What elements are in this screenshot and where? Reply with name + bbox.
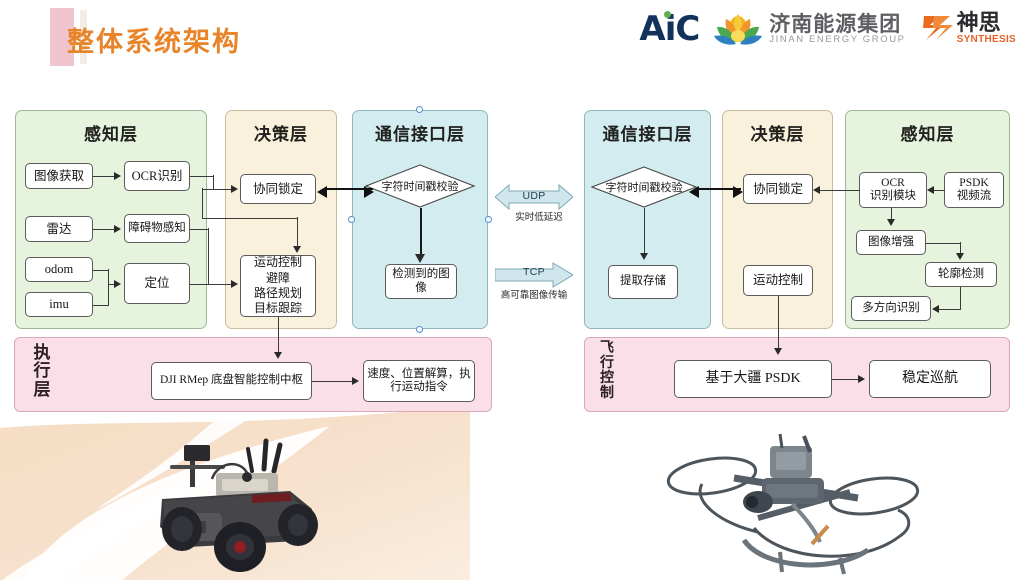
node-localization[interactable]: 定位 <box>124 263 190 304</box>
selection-handle-top[interactable] <box>416 106 423 113</box>
node-contour-detect[interactable]: 轮廓检测 <box>925 262 997 287</box>
link-right-motion-to-flight <box>778 296 779 352</box>
node-multi-direction-recognition[interactable]: 多方向识别 <box>851 296 931 321</box>
protocol-label-tcp: TCP <box>495 266 573 278</box>
node-image-capture[interactable]: 图像获取 <box>25 163 93 189</box>
panel-left-communication-title: 通信接口层 <box>353 120 487 145</box>
link-ocr-right <box>190 176 214 177</box>
link-timestamp-to-detected <box>420 208 422 256</box>
arrowhead-motion-to-execution <box>274 352 282 359</box>
drone-photo <box>662 432 932 577</box>
link-image-to-ocr <box>93 176 116 177</box>
node-left-timestamp-check[interactable]: 字符时间戳校验 <box>365 164 475 208</box>
arrowhead-timestamp-to-detected <box>415 254 425 263</box>
node-ocr[interactable]: OCR识别 <box>124 161 190 191</box>
link-imu-out <box>93 305 109 306</box>
node-left-cooperative-lock[interactable]: 协同锁定 <box>240 174 316 204</box>
link-right-timestamp-to-store <box>644 208 645 256</box>
protocol-label-udp: UDP <box>495 190 573 202</box>
node-image-enhance[interactable]: 图像增强 <box>856 230 926 255</box>
panel-left-perception-title: 感知层 <box>16 120 206 145</box>
selection-handle-bottom[interactable] <box>416 326 423 333</box>
ocr-module-line-2: 识别模块 <box>870 190 916 203</box>
panel-right-communication-title: 通信接口层 <box>585 120 710 145</box>
arrowhead-contour-to-multi <box>932 305 939 313</box>
node-right-timestamp-check[interactable]: 字符时间戳校验 <box>591 166 697 208</box>
link-lidar-to-obstacle <box>93 229 116 230</box>
protocol-arrow-tcp[interactable]: TCP <box>495 262 573 288</box>
link-contour-down <box>960 287 961 309</box>
node-left-detected-image[interactable]: 检测到的图像 <box>385 264 457 299</box>
link-motion-to-execution <box>278 317 280 355</box>
link-odom-out <box>93 270 109 271</box>
panel-right-perception-title: 感知层 <box>846 120 1009 145</box>
arrowhead-chassis-to-command <box>352 377 359 385</box>
link-chassis-to-command <box>312 381 355 382</box>
node-stable-cruise[interactable]: 稳定巡航 <box>869 360 991 398</box>
node-right-motion-control[interactable]: 运动控制 <box>743 265 813 296</box>
arrowhead-localization-to-motion <box>231 280 238 288</box>
node-ocr-module[interactable]: OCR 识别模块 <box>859 172 927 208</box>
arrowhead-image-to-ocr <box>114 172 121 180</box>
node-right-cooperative-lock[interactable]: 协同锁定 <box>743 174 813 204</box>
motion-command-line-1: 速度、位置解算，执 <box>367 368 471 381</box>
link-localization-to-motion <box>190 284 234 285</box>
link-obstacle-right <box>190 229 209 230</box>
node-psdk-stream[interactable]: PSDK 视频流 <box>944 172 1004 208</box>
flight-label-char-1: 飞 <box>596 341 618 356</box>
link-ocr-branch-down <box>202 188 203 218</box>
link-ocr-branch-right <box>202 218 298 219</box>
panel-right-decision-title: 决策层 <box>723 120 832 145</box>
ocr-module-line-1: OCR <box>881 177 905 190</box>
arrowhead-psdk-to-cruise <box>858 375 865 383</box>
motion-command-line-2: 行运动指令 <box>390 381 448 394</box>
motion-control-line-3: 路径规划 <box>254 286 302 301</box>
arrowhead-left-lock-diamond-left <box>317 186 327 198</box>
node-left-motion-control[interactable]: 运动控制 避障 路径规划 目标跟踪 <box>240 255 316 317</box>
architecture-diagram: 感知层 图像获取 OCR识别 雷达 障碍物感知 odom imu 定位 决策层 … <box>0 0 1022 580</box>
node-extract-store[interactable]: 提取存储 <box>608 265 678 299</box>
arrowhead-right-motion-to-flight <box>774 348 782 355</box>
execution-label-char-3: 层 <box>30 381 54 399</box>
protocol-note-tcp: 高可靠图像传输 <box>479 287 589 301</box>
arrowhead-psdk-to-ocr <box>927 186 934 194</box>
motion-control-line-4: 目标跟踪 <box>254 301 302 316</box>
link-branch-to-motion-top <box>297 217 298 249</box>
protocol-arrow-udp[interactable]: UDP <box>495 182 573 212</box>
arrowhead-lidar-to-obstacle <box>114 225 121 233</box>
node-lidar[interactable]: 雷达 <box>25 216 93 242</box>
link-odom-imu-merge <box>108 269 109 305</box>
arrowhead-ocr-to-right-lock <box>813 186 820 194</box>
arrowhead-right-diamond-lock-left <box>689 186 699 198</box>
selection-handle-left[interactable] <box>348 216 355 223</box>
execution-label-char-1: 执 <box>30 344 54 362</box>
arrowhead-right-timestamp-to-store <box>640 253 648 260</box>
timestamp-check-label: 字符时间戳校验 <box>365 178 475 194</box>
link-ocr-to-lock <box>202 189 234 190</box>
motion-control-line-1: 运动控制 <box>254 255 302 270</box>
psdk-stream-line-2: 视频流 <box>957 190 992 203</box>
arrowhead-right-diamond-lock-right <box>733 186 743 198</box>
arrowhead-ocr-to-enhance <box>887 219 895 226</box>
ground-robot-photo <box>140 435 340 575</box>
psdk-stream-line-1: PSDK <box>959 177 988 190</box>
arrowhead-branch-to-motion-top <box>293 246 301 253</box>
link-obstacle-down <box>208 228 209 284</box>
link-ocr-to-right-lock <box>818 190 860 191</box>
link-contour-to-multi <box>937 309 961 310</box>
arrowhead-ocr-to-lock <box>231 185 238 193</box>
node-motion-command[interactable]: 速度、位置解算，执 行运动指令 <box>363 360 475 402</box>
node-odom[interactable]: odom <box>25 257 93 282</box>
band-flight-control-label: 飞 行 控 制 <box>596 341 618 401</box>
flight-label-char-4: 制 <box>596 386 618 401</box>
node-chassis-control-hub[interactable]: DJI RMep 底盘智能控制中枢 <box>151 362 312 400</box>
node-psdk-based[interactable]: 基于大疆 PSDK <box>674 360 832 398</box>
arrowhead-left-lock-diamond-right <box>364 186 374 198</box>
band-execution-label: 执 行 层 <box>30 344 54 399</box>
panel-left-decision-title: 决策层 <box>226 120 336 145</box>
node-obstacle-perception[interactable]: 障碍物感知 <box>124 214 190 243</box>
link-enhance-right <box>926 243 961 244</box>
node-imu[interactable]: imu <box>25 292 93 317</box>
arrowhead-merge-to-localization <box>114 280 121 288</box>
flight-label-char-2: 行 <box>596 356 618 371</box>
link-ocr-down <box>213 175 214 189</box>
motion-control-line-2: 避障 <box>266 271 290 286</box>
execution-label-char-2: 行 <box>30 362 54 380</box>
protocol-note-udp: 实时低延迟 <box>484 209 594 223</box>
right-timestamp-check-label: 字符时间戳校验 <box>591 179 697 195</box>
arrowhead-enhance-to-contour <box>956 253 964 260</box>
